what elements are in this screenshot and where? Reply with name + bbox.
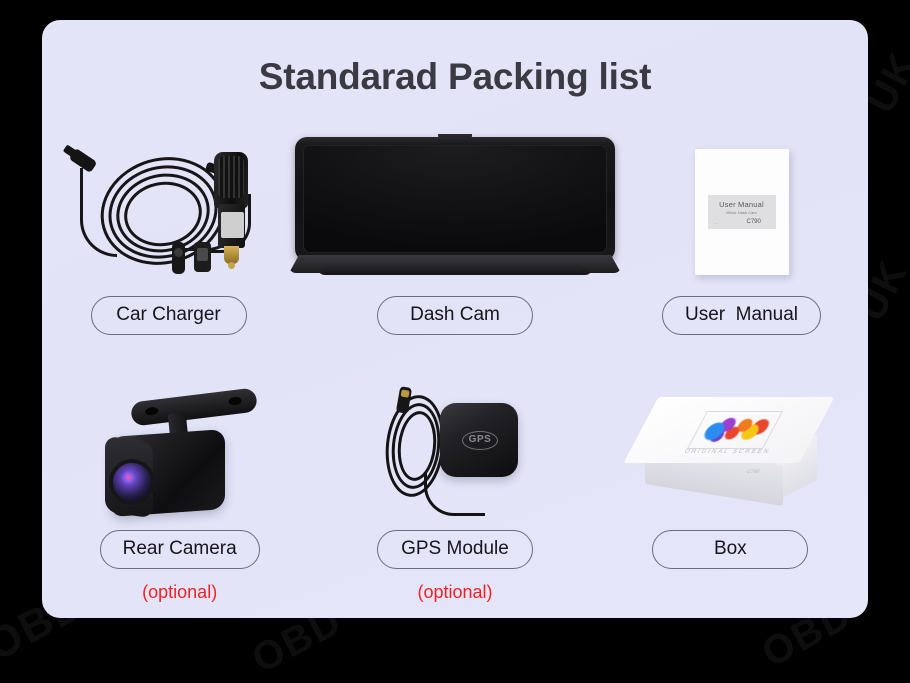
rear-camera-image xyxy=(42,380,317,530)
gps-module-image: GPS xyxy=(317,380,592,530)
packing-list-row-top: Car Charger Dash Cam xyxy=(42,128,868,368)
user-manual-image: User Manual Mirror Dash Cam C790 -- xyxy=(615,128,868,296)
packing-list-card: Standarad Packing list xyxy=(42,20,868,618)
usb-connector xyxy=(194,242,211,272)
item-box: ORIGINAL SCREEN C790 Box xyxy=(593,380,868,610)
camera-mount-bracket xyxy=(130,387,258,426)
box-caption: ORIGINAL SCREEN xyxy=(674,449,781,455)
item-gps-module: GPS GPS Module (optional) xyxy=(317,380,592,610)
charger-brass-tip xyxy=(224,246,239,264)
gps-logo-icon: GPS xyxy=(462,431,498,450)
bracket-screw-hole-right xyxy=(228,396,242,406)
dash-cam-image xyxy=(295,128,615,296)
cable-lead xyxy=(80,168,117,257)
dash-cam-body xyxy=(295,137,615,261)
manual-cover-mark: -- xyxy=(715,220,718,225)
optional-note-rear-camera: (optional) xyxy=(142,582,217,603)
item-user-manual: User Manual Mirror Dash Cam C790 -- User… xyxy=(615,128,868,368)
label-user-manual: User Manual xyxy=(662,296,821,335)
optional-note-gps-module: (optional) xyxy=(417,582,492,603)
item-car-charger: Car Charger xyxy=(42,128,295,368)
gps-cable-tail xyxy=(424,473,485,516)
label-car-charger: Car Charger xyxy=(91,296,247,335)
label-box: Box xyxy=(652,530,808,569)
manual-cover-subtitle: Mirror Dash Cam xyxy=(708,210,776,215)
dc-jack-connector xyxy=(172,242,185,274)
label-gps-module: GPS Module xyxy=(377,530,533,569)
rear-camera-lens-icon xyxy=(113,463,151,501)
box-image: ORIGINAL SCREEN C790 xyxy=(593,380,868,530)
charger-label xyxy=(221,212,244,238)
item-rear-camera: Rear Camera (optional) xyxy=(42,380,317,610)
car-charger-image xyxy=(42,128,295,296)
page-title: Standarad Packing list xyxy=(42,56,868,98)
cigarette-lighter-head xyxy=(214,152,248,208)
label-dash-cam: Dash Cam xyxy=(377,296,533,335)
manual-cover-title: User Manual xyxy=(708,200,776,209)
color-splash-icon xyxy=(697,417,773,443)
manual-cover-model: C790 xyxy=(747,219,761,225)
dash-cam-foot xyxy=(317,263,593,275)
label-rear-camera: Rear Camera xyxy=(100,530,260,569)
bracket-screw-hole-left xyxy=(144,406,158,416)
dash-cam-screen xyxy=(303,145,607,253)
item-dash-cam: Dash Cam xyxy=(295,128,615,368)
packing-list-row-bottom: Rear Camera (optional) GPS GPS Module (o… xyxy=(42,380,868,610)
gps-antenna-puck: GPS xyxy=(440,403,518,477)
